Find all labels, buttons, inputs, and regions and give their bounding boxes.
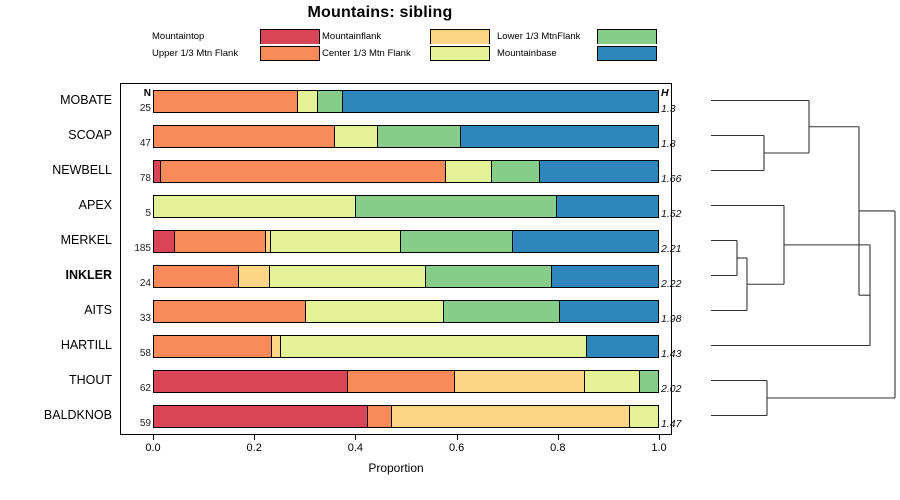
legend-item[interactable]: Lower 1/3 MtnFlank (497, 28, 672, 45)
bar-segment[interactable] (318, 91, 343, 112)
dendrogram (680, 83, 900, 435)
bar-segment[interactable] (270, 266, 426, 287)
bar-segment[interactable] (343, 91, 658, 112)
x-axis-tick (659, 435, 660, 440)
legend-item[interactable]: Center 1/3 Mtn Flank (322, 45, 497, 62)
legend-item-label: Lower 1/3 MtnFlank (497, 28, 580, 45)
x-axis-tick-label: 0.6 (437, 442, 477, 454)
stacked-bar[interactable] (153, 160, 659, 183)
bar-segment[interactable] (461, 126, 658, 147)
legend-swatch (430, 29, 490, 44)
bar-segment[interactable] (640, 371, 658, 392)
row-label-hartill[interactable]: HARTILL (0, 338, 112, 352)
stacked-bar[interactable] (153, 230, 659, 253)
bar-segment[interactable] (560, 301, 658, 322)
bar-segment[interactable] (446, 161, 491, 182)
legend-swatch (597, 29, 657, 44)
row-label-column: MOBATESCOAPNEWBELLAPEXMERKELINKLERAITSHA… (0, 83, 116, 435)
legend-item-label: Upper 1/3 Mtn Flank (152, 45, 238, 62)
bar-segment[interactable] (356, 196, 558, 217)
dendrogram-svg (680, 83, 900, 435)
bar-segment[interactable] (154, 336, 272, 357)
bar-segment[interactable] (585, 371, 640, 392)
row-n-value: 5 (121, 208, 151, 219)
bar-segment[interactable] (272, 336, 281, 357)
bar-segment[interactable] (154, 406, 368, 427)
row-label-baldknob[interactable]: BALDKNOB (0, 408, 112, 422)
bar-row[interactable]: 51.52 (121, 189, 671, 224)
bar-segment[interactable] (154, 371, 348, 392)
x-axis-tick (153, 435, 154, 440)
stacked-bar[interactable] (153, 125, 659, 148)
row-n-value: 24 (121, 278, 151, 289)
legend-item[interactable]: Mountainbase (497, 45, 672, 62)
legend-item-label: Center 1/3 Mtn Flank (322, 45, 411, 62)
bar-segment[interactable] (335, 126, 378, 147)
x-axis-tick-label: 0.8 (538, 442, 578, 454)
bar-segment[interactable] (281, 336, 587, 357)
stacked-bar[interactable] (153, 195, 659, 218)
bar-row[interactable]: 331.98 (121, 294, 671, 329)
bar-segment[interactable] (426, 266, 552, 287)
bar-segment[interactable] (630, 406, 658, 427)
bar-segment[interactable] (154, 231, 175, 252)
page-title: Mountains: sibling (0, 4, 760, 22)
row-n-value: 25 (121, 103, 151, 114)
bar-segment[interactable] (161, 161, 447, 182)
legend-item[interactable]: Mountaintop (152, 28, 327, 45)
stacked-bar[interactable] (153, 405, 659, 428)
row-n-value: 47 (121, 138, 151, 149)
bar-row[interactable]: 622.02 (121, 364, 671, 399)
legend-swatch (260, 29, 320, 44)
chart-canvas: Mountains: sibling MountaintopUpper 1/3 … (0, 0, 900, 500)
bar-segment[interactable] (444, 301, 560, 322)
bar-segment[interactable] (513, 231, 658, 252)
row-label-thout[interactable]: THOUT (0, 373, 112, 387)
row-label-newbell[interactable]: NEWBELL (0, 163, 112, 177)
row-label-apex[interactable]: APEX (0, 198, 112, 212)
bar-row[interactable]: 242.22 (121, 259, 671, 294)
stacked-bar[interactable] (153, 370, 659, 393)
x-axis-tick-label: 0.2 (234, 442, 274, 454)
x-axis-tick (254, 435, 255, 440)
x-axis-tick (355, 435, 356, 440)
x-axis-tick (558, 435, 559, 440)
row-label-scoap[interactable]: SCOAP (0, 128, 112, 142)
bar-segment[interactable] (557, 196, 658, 217)
x-axis-title: Proportion (120, 461, 672, 475)
stacked-bar[interactable] (153, 300, 659, 323)
legend-item-label: Mountaintop (152, 28, 204, 45)
row-label-aits[interactable]: AITS (0, 303, 112, 317)
row-label-mobate[interactable]: MOBATE (0, 93, 112, 107)
legend-item-label: Mountainbase (497, 45, 557, 62)
stacked-bar[interactable] (153, 90, 659, 113)
row-n-value: 59 (121, 418, 151, 429)
legend-item[interactable]: Upper 1/3 Mtn Flank (152, 45, 327, 62)
row-n-value: 78 (121, 173, 151, 184)
row-n-value: 62 (121, 383, 151, 394)
row-n-value: 185 (121, 243, 151, 254)
stacked-bars: NH251.3471.8781.6651.521852.21242.22331.… (121, 84, 671, 434)
x-axis-tick-label: 0.4 (335, 442, 375, 454)
legend-swatch (260, 46, 320, 61)
x-axis-tick-label: 0.0 (133, 442, 173, 454)
x-axis-tick (457, 435, 458, 440)
stacked-bar[interactable] (153, 265, 659, 288)
x-axis-tick-label: 1.0 (639, 442, 679, 454)
bar-segment[interactable] (392, 406, 630, 427)
bar-row[interactable]: 251.3 (121, 84, 671, 119)
bar-segment[interactable] (492, 161, 540, 182)
bar-segment[interactable] (378, 126, 461, 147)
bar-segment[interactable] (455, 371, 585, 392)
bar-segment[interactable] (368, 406, 392, 427)
legend-column: MountaintopUpper 1/3 Mtn Flank (152, 28, 327, 62)
bar-segment[interactable] (271, 231, 401, 252)
bar-row[interactable]: 1852.21 (121, 224, 671, 259)
bar-segment[interactable] (239, 266, 270, 287)
bar-segment[interactable] (154, 126, 335, 147)
bar-segment[interactable] (154, 266, 239, 287)
legend-item-label: Mountainflank (322, 28, 381, 45)
plot-area: NH251.3471.8781.6651.521852.21242.22331.… (120, 83, 672, 435)
bar-segment[interactable] (348, 371, 455, 392)
bar-row[interactable]: 781.66 (121, 154, 671, 189)
bar-segment[interactable] (154, 196, 356, 217)
legend: MountaintopUpper 1/3 Mtn FlankMountainfl… (152, 28, 672, 62)
bar-segment[interactable] (540, 161, 658, 182)
bar-segment[interactable] (306, 301, 444, 322)
legend-column: MountainflankCenter 1/3 Mtn Flank (322, 28, 497, 62)
bar-segment[interactable] (154, 301, 306, 322)
stacked-bar[interactable] (153, 335, 659, 358)
row-n-value: 33 (121, 313, 151, 324)
legend-column: Lower 1/3 MtnFlankMountainbase (497, 28, 672, 62)
bar-row[interactable]: 581.43 (121, 329, 671, 364)
bar-segment[interactable] (154, 91, 298, 112)
bar-row[interactable]: 471.8 (121, 119, 671, 154)
bar-segment[interactable] (175, 231, 266, 252)
legend-swatch (597, 46, 657, 61)
bar-segment[interactable] (587, 336, 658, 357)
row-label-merkel[interactable]: MERKEL (0, 233, 112, 247)
legend-item[interactable]: Mountainflank (322, 28, 497, 45)
bar-segment[interactable] (552, 266, 658, 287)
row-label-inkler[interactable]: INKLER (0, 268, 112, 282)
bar-segment[interactable] (401, 231, 513, 252)
row-n-value: 58 (121, 348, 151, 359)
legend-swatch (430, 46, 490, 61)
bar-segment[interactable] (298, 91, 318, 112)
bar-row[interactable]: 591.47 (121, 399, 671, 434)
